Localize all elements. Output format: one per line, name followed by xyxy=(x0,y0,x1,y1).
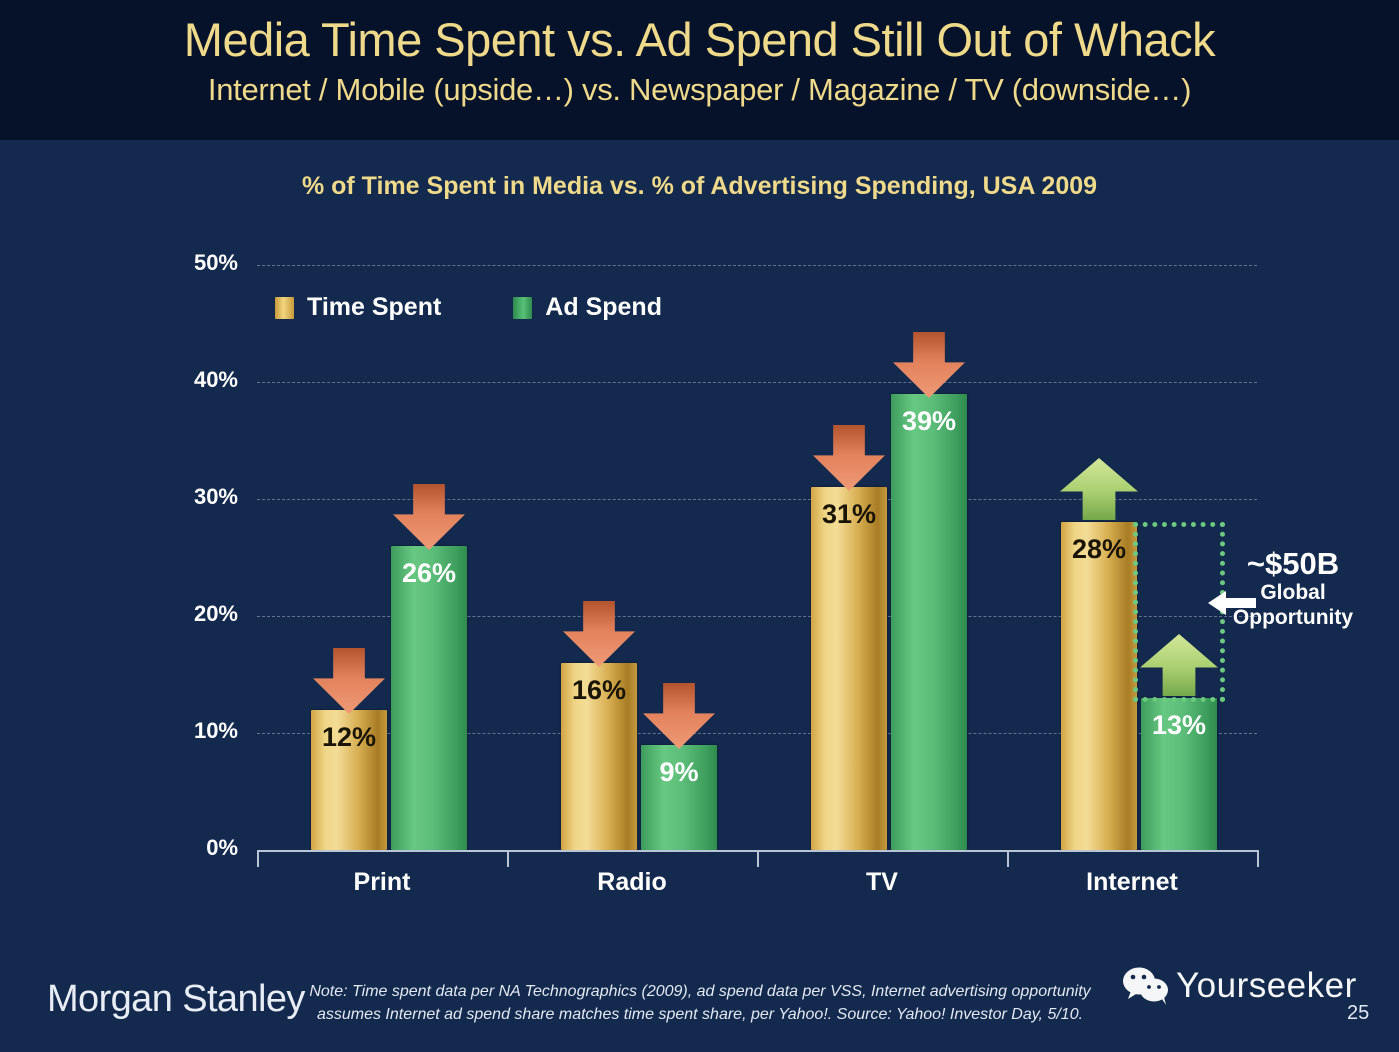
arrow-down-icon xyxy=(813,425,885,491)
y-axis-tick-label: 30% xyxy=(148,484,238,510)
morgan-stanley-logo: Morgan Stanley xyxy=(47,978,305,1021)
x-axis-tick xyxy=(507,850,509,867)
x-axis-end-cap xyxy=(1257,850,1259,867)
watermark-text: Yourseeker xyxy=(1176,966,1357,1006)
x-axis-tick xyxy=(757,850,759,867)
chart-legend: Time Spent Ad Spend xyxy=(275,293,662,322)
legend-label-ad-spend: Ad Spend xyxy=(545,293,662,322)
arrow-down-icon xyxy=(393,484,465,550)
slide: Media Time Spent vs. Ad Spend Still Out … xyxy=(0,0,1399,1052)
wechat-icon xyxy=(1122,966,1170,1006)
slide-header: Media Time Spent vs. Ad Spend Still Out … xyxy=(0,0,1399,140)
y-axis-tick-label: 40% xyxy=(148,367,238,393)
bar-radio-ad-spend: 9% xyxy=(641,745,717,850)
arrow-down-icon xyxy=(313,648,385,714)
arrow-down-icon xyxy=(643,683,715,749)
x-axis-label-radio: Radio xyxy=(507,868,757,897)
footnote-line-2: spend share matches time spent share, pe… xyxy=(466,1006,1083,1023)
chart-title: % of Time Spent in Media vs. % of Advert… xyxy=(0,172,1399,201)
bar-value-label: 16% xyxy=(561,675,637,706)
plot-area: 12%26%16%9%31%39%28%13% xyxy=(257,265,1257,850)
callout-amount: ~$50B xyxy=(1193,548,1393,581)
y-axis-tick-label: 0% xyxy=(148,835,238,861)
legend-swatch-icon-ad-spend xyxy=(513,297,532,319)
arrow-down-icon xyxy=(893,332,965,398)
x-axis-label-internet: Internet xyxy=(1007,868,1257,897)
bar-value-label: 9% xyxy=(641,757,717,788)
legend-item-ad-spend: Ad Spend xyxy=(513,293,662,322)
bar-value-label: 13% xyxy=(1141,710,1217,741)
x-axis-label-print: Print xyxy=(257,868,507,897)
gridline xyxy=(257,382,1257,383)
bar-value-label: 31% xyxy=(811,499,887,530)
y-axis-tick-label: 10% xyxy=(148,718,238,744)
page-title: Media Time Spent vs. Ad Spend Still Out … xyxy=(0,12,1399,67)
bar-value-label: 28% xyxy=(1061,534,1137,565)
legend-swatch-icon-time-spent xyxy=(275,297,294,319)
legend-item-time-spent: Time Spent xyxy=(275,293,441,322)
footnote: Note: Time spent data per NA Technograph… xyxy=(300,980,1100,1026)
bar-print-ad-spend: 26% xyxy=(391,546,467,850)
watermark: Yourseeker xyxy=(1122,966,1357,1006)
x-axis-tick xyxy=(1007,850,1009,867)
callout-line-opportunity: Opportunity xyxy=(1193,606,1393,631)
bar-tv-time-spent: 31% xyxy=(811,487,887,850)
x-axis-label-tv: TV xyxy=(757,868,1007,897)
bar-value-label: 39% xyxy=(891,406,967,437)
bar-value-label: 12% xyxy=(311,722,387,753)
callout-line-global: Global xyxy=(1193,581,1393,606)
opportunity-callout: ~$50B Global Opportunity xyxy=(1193,548,1393,630)
x-axis-end-cap xyxy=(257,850,259,867)
bar-radio-time-spent: 16% xyxy=(561,663,637,850)
y-axis-tick-label: 20% xyxy=(148,601,238,627)
legend-label-time-spent: Time Spent xyxy=(307,293,441,322)
gridline xyxy=(257,265,1257,266)
bar-tv-ad-spend: 39% xyxy=(891,394,967,850)
bar-internet-ad-spend: 13% xyxy=(1141,698,1217,850)
bar-internet-time-spent: 28% xyxy=(1061,522,1137,850)
bar-value-label: 26% xyxy=(391,558,467,589)
arrow-up-icon xyxy=(1060,458,1138,520)
arrow-down-icon xyxy=(563,601,635,667)
y-axis-tick-label: 50% xyxy=(148,250,238,276)
bar-print-time-spent: 12% xyxy=(311,710,387,850)
page-subtitle: Internet / Mobile (upside…) vs. Newspape… xyxy=(0,72,1399,108)
